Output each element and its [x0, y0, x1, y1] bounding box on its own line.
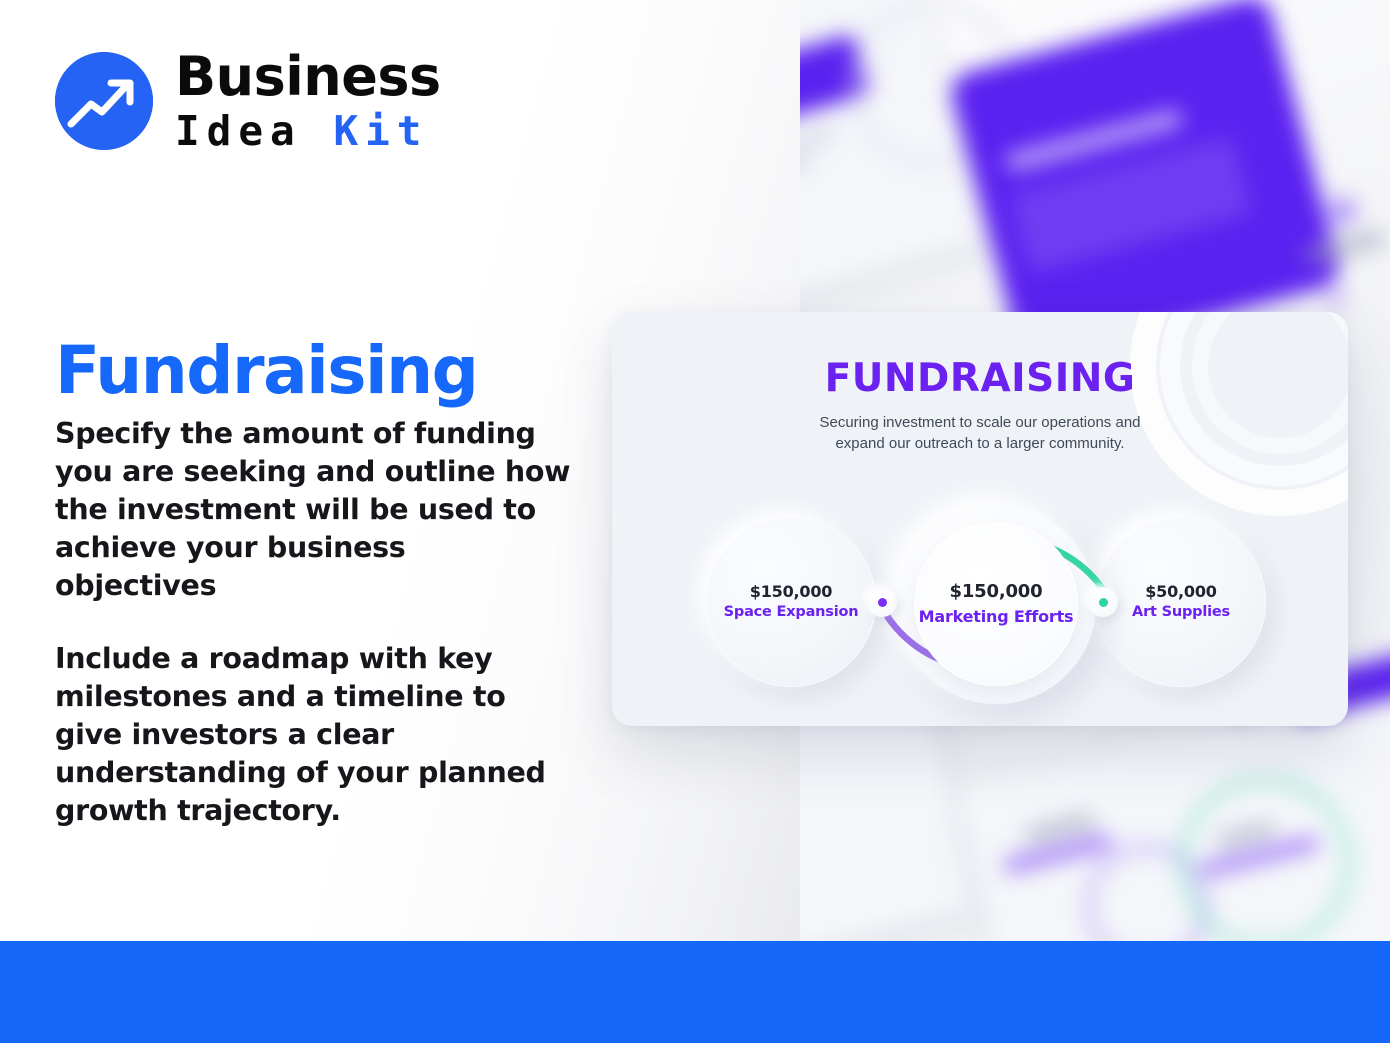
- center-circle-inner: $150,000 Marketing Efforts: [914, 522, 1078, 686]
- connector-dot-purple-icon: [878, 598, 887, 607]
- slide-root: Business Idea Kit Fundraising Specify th…: [0, 0, 1390, 1043]
- fundraising-preview-card[interactable]: FUNDRAISING Securing investment to scale…: [612, 312, 1348, 726]
- funding-breakdown-group: $150,000 Space Expansion $50,000 Art Sup…: [612, 504, 1348, 704]
- bg-accent-dot: [1328, 292, 1344, 308]
- funding-amount: $150,000: [750, 581, 832, 603]
- bg-accent-dot: [1330, 198, 1356, 224]
- funding-circle-left[interactable]: $150,000 Space Expansion: [706, 517, 876, 687]
- brand-logo: Business Idea Kit: [55, 50, 441, 152]
- funding-label: Marketing Efforts: [919, 605, 1074, 628]
- brand-name-idea: Idea: [175, 107, 302, 155]
- brand-name-kit: Kit: [333, 107, 428, 155]
- page-title: Fundraising: [55, 336, 477, 405]
- body-paragraph-2: Include a roadmap with key milestones an…: [55, 640, 575, 829]
- funding-circle-right[interactable]: $50,000 Art Supplies: [1096, 517, 1266, 687]
- brand-name-secondary: Idea Kit: [175, 111, 441, 152]
- connector-knob-right: [1088, 587, 1118, 617]
- connector-knob-left: [867, 587, 897, 617]
- card-subtitle-line-2: expand our outreach to a larger communit…: [612, 433, 1348, 454]
- card-title: FUNDRAISING: [612, 356, 1348, 401]
- brand-wordmark: Business Idea Kit: [175, 50, 441, 152]
- card-subtitle: Securing investment to scale our operati…: [612, 412, 1348, 455]
- funding-label: Space Expansion: [724, 602, 859, 623]
- connector-dot-green-icon: [1099, 598, 1108, 607]
- funding-amount: $50,000: [1145, 581, 1216, 603]
- funding-label: Art Supplies: [1132, 602, 1230, 623]
- brand-name-primary: Business: [175, 50, 441, 104]
- bg-text-bar: [1003, 833, 1113, 873]
- body-paragraph-1: Specify the amount of funding you are se…: [55, 415, 575, 604]
- funding-amount: $150,000: [950, 580, 1043, 604]
- footer-bar: [0, 941, 1390, 1043]
- card-subtitle-line-1: Securing investment to scale our operati…: [612, 412, 1348, 433]
- funding-circle-center[interactable]: $150,000 Marketing Efforts: [878, 486, 1114, 722]
- bg-text-bar: [1024, 813, 1095, 843]
- growth-chart-circle-icon: [55, 52, 153, 150]
- body-copy: Specify the amount of funding you are se…: [55, 415, 575, 830]
